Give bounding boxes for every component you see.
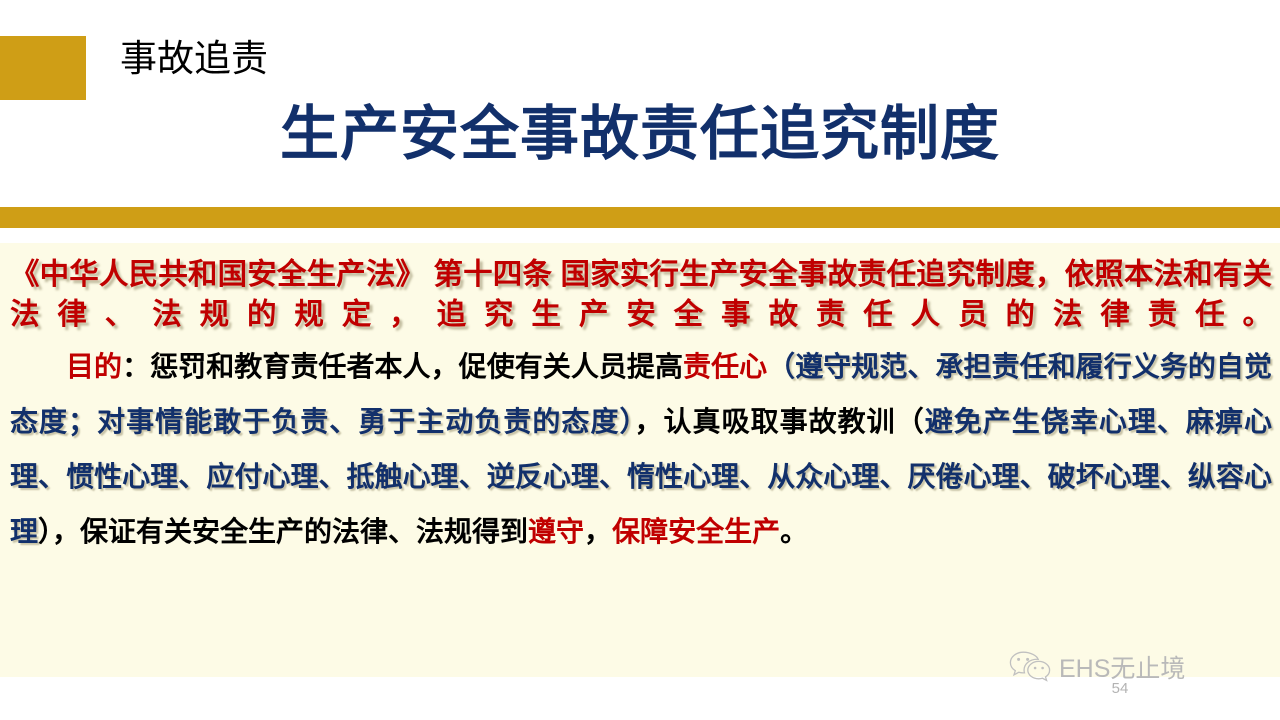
header-body-gap bbox=[0, 228, 1280, 243]
purpose-paragraph: 目的：惩罚和教育责任者本人，促使有关人员提高责任心（遵守规范、承担责任和履行义务… bbox=[10, 339, 1272, 559]
page-title: 生产安全事故责任追究制度 bbox=[0, 102, 1280, 167]
text-segment-2: 责任心 bbox=[683, 351, 767, 382]
watermark-label: EHS无止境 bbox=[1059, 657, 1185, 682]
slide-header: 事故追责 生产安全事故责任追究制度 bbox=[0, 0, 1280, 207]
text-segment-7: 遵守 bbox=[528, 516, 584, 547]
text-segment-9: 保障安全生产 bbox=[612, 516, 780, 547]
slide-canvas: 事故追责 生产安全事故责任追究制度 《中华人民共和国安全生产法》 第十四条 国家… bbox=[0, 0, 1280, 720]
text-segment-10: 。 bbox=[780, 516, 808, 547]
text-segment-0: 目的 bbox=[66, 351, 122, 382]
text-segment-1: ：惩罚和教育责任者本人，促使有关人员提高 bbox=[122, 351, 683, 382]
text-segment-8: ， bbox=[584, 516, 612, 547]
text-segment-0: 《中华人民共和国安全生产法》 第十四条 国家实行生产安全事故责任追究制度，依照本… bbox=[10, 258, 1272, 331]
wechat-icon bbox=[1008, 650, 1052, 689]
section-kicker: 事故追责 bbox=[120, 38, 268, 81]
content-panel: 《中华人民共和国安全生产法》 第十四条 国家实行生产安全事故责任追究制度，依照本… bbox=[0, 243, 1280, 677]
gold-divider-rule bbox=[0, 207, 1280, 228]
page-number: 54 bbox=[1090, 680, 1150, 697]
law-citation-paragraph: 《中华人民共和国安全生产法》 第十四条 国家实行生产安全事故责任追究制度，依照本… bbox=[10, 255, 1272, 335]
text-segment-4: ，认真吸取事故教训（ bbox=[635, 406, 925, 437]
gold-accent-square bbox=[0, 36, 86, 100]
text-segment-6: ），保证有关安全生产的法律、法规得到 bbox=[38, 516, 528, 547]
